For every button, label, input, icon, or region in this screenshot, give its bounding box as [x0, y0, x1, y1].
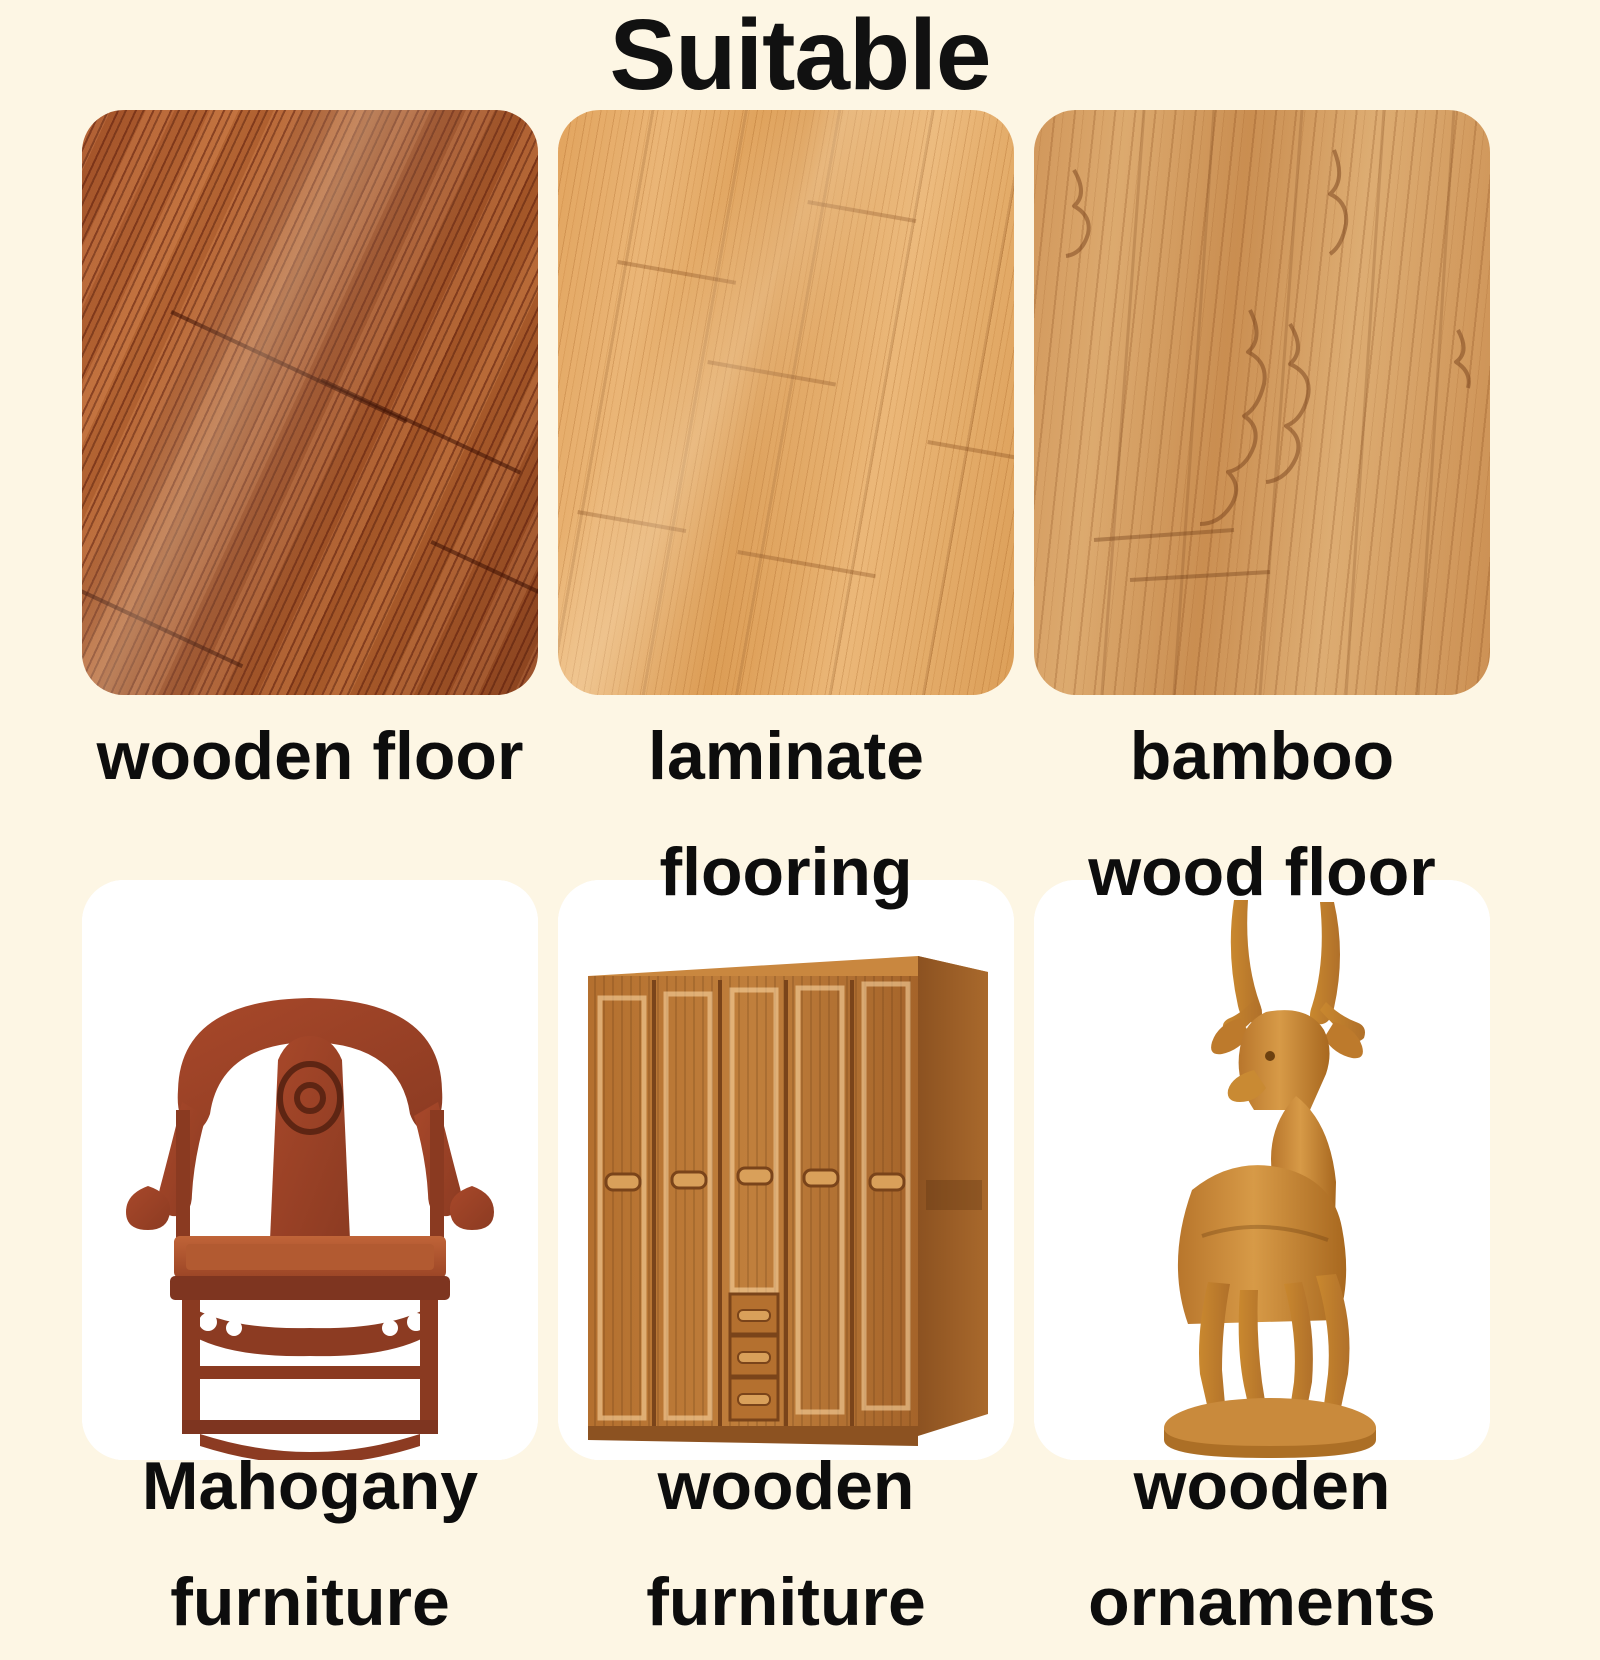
caption-mahogany-furniture: Mahogany furniture	[82, 1428, 538, 1660]
card-mahogany-furniture[interactable]	[82, 880, 538, 1460]
caption-bamboo-wood-floor: bamboo wood floor	[1034, 698, 1490, 930]
infographic-page: Suitable	[0, 0, 1600, 1600]
card-bamboo-wood-floor[interactable]	[1034, 110, 1490, 695]
caption-wooden-floor: wooden floor	[82, 698, 538, 814]
caption-wooden-furniture: wooden furniture	[558, 1428, 1014, 1660]
card-wooden-furniture[interactable]	[558, 880, 1014, 1460]
wooden-ornaments-image	[1034, 880, 1490, 1460]
caption-wooden-ornaments: wooden ornaments	[1034, 1428, 1490, 1660]
caption-laminate-flooring: laminate flooring	[558, 698, 1014, 930]
wooden-furniture-image	[558, 880, 1014, 1460]
mahogany-furniture-image	[82, 880, 538, 1460]
card-wooden-ornaments[interactable]	[1034, 880, 1490, 1460]
laminate-gloss	[558, 110, 1014, 695]
card-wooden-floor[interactable]	[82, 110, 538, 695]
bamboo-grain-figure	[1034, 110, 1490, 695]
wooden-floor-gloss	[82, 110, 538, 695]
card-laminate-flooring[interactable]	[558, 110, 1014, 695]
page-title: Suitable	[0, 0, 1600, 110]
